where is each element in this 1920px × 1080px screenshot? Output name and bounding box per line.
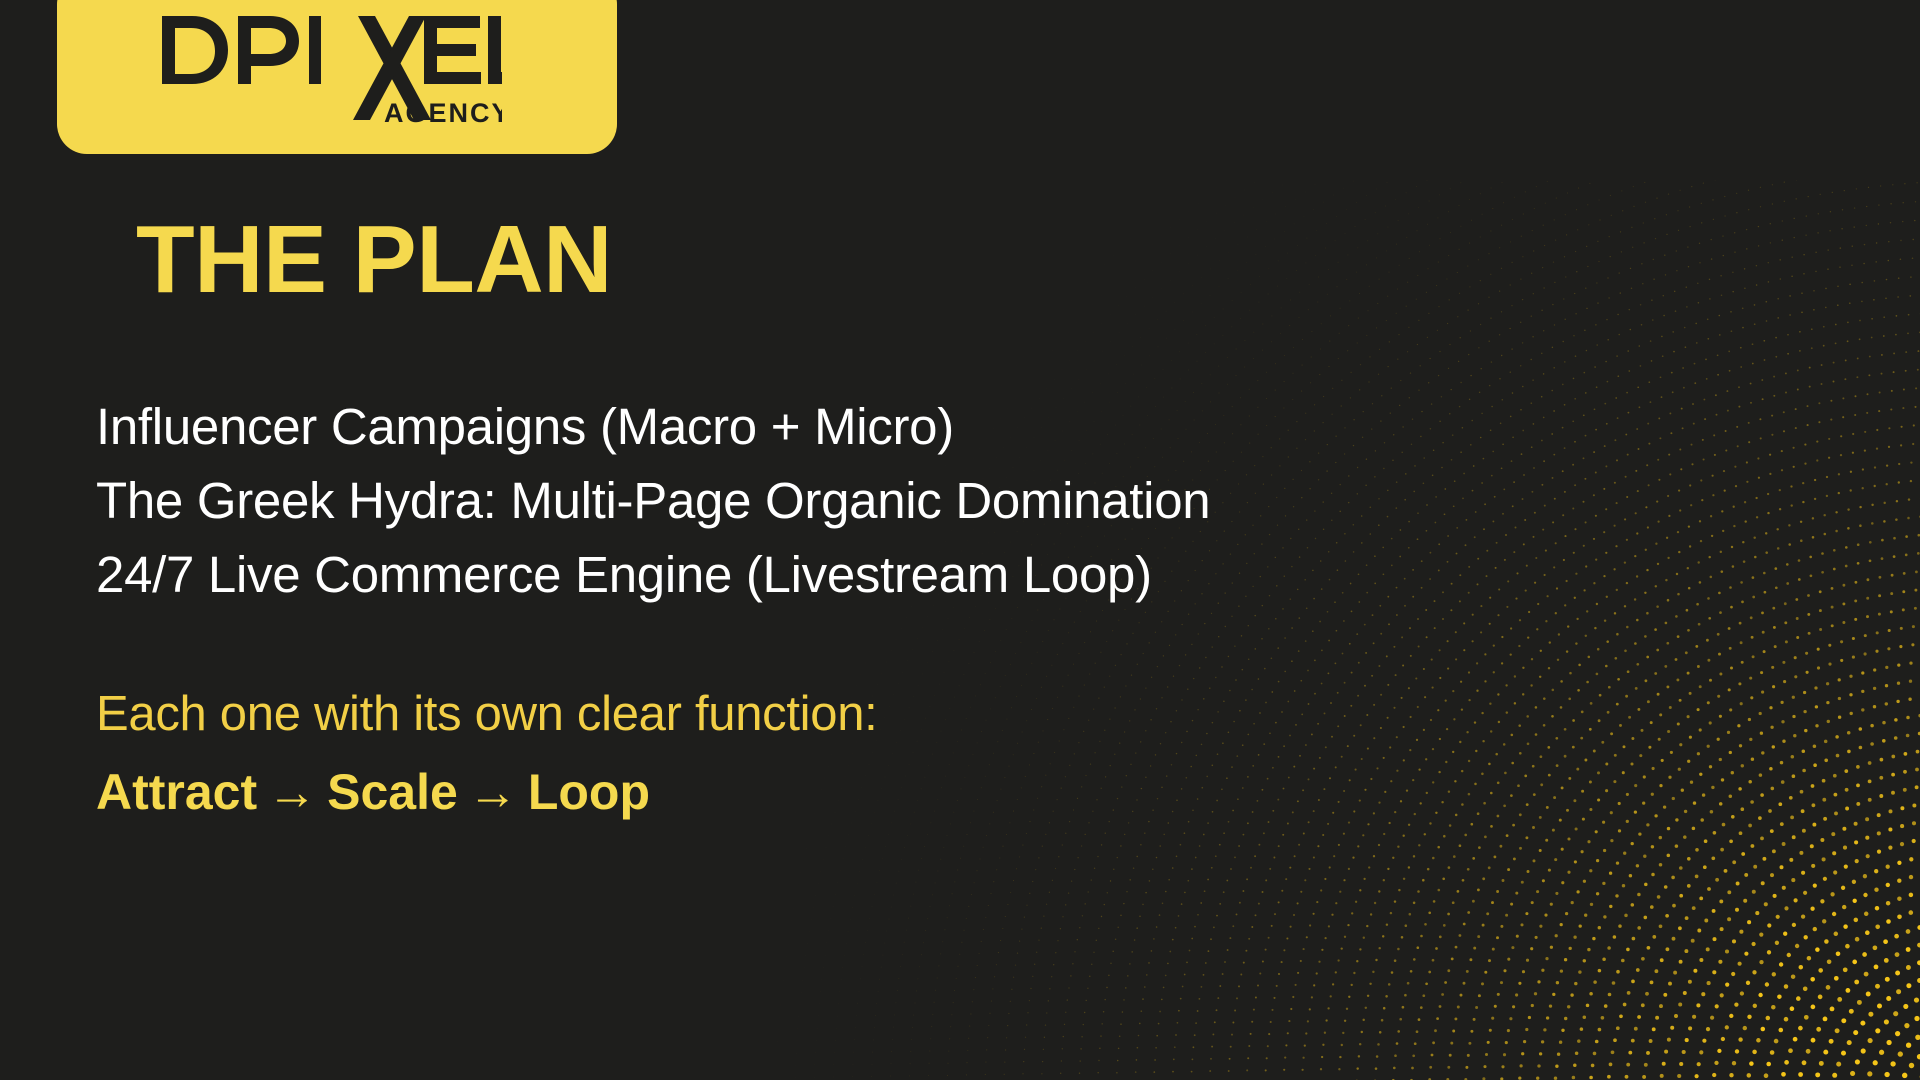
dpixel-wordmark-icon: AGENCY (162, 10, 502, 128)
plan-flow-line: Attract→Scale→Loop (96, 761, 1496, 824)
plan-bullet-3: 24/7 Live Commerce Engine (Livestream Lo… (96, 538, 1656, 612)
flow-step-loop: Loop (528, 764, 650, 820)
plan-bullet-1: Influencer Campaigns (Macro + Micro) (96, 390, 1656, 464)
halftone-burst-decoration (740, 180, 1920, 1080)
plan-function-note: Each one with its own clear function: (96, 680, 1496, 749)
slide-canvas: AGENCY THE PLAN Influencer Campaigns (Ma… (0, 0, 1920, 1080)
plan-bullet-2: The Greek Hydra: Multi-Page Organic Domi… (96, 464, 1656, 538)
flow-step-attract: Attract (96, 764, 257, 820)
plan-bullet-list: Influencer Campaigns (Macro + Micro) The… (96, 390, 1656, 612)
page-title: THE PLAN (136, 212, 612, 308)
svg-text:AGENCY: AGENCY (384, 98, 502, 128)
logo-lockup: AGENCY (162, 10, 582, 130)
arrow-right-icon-1: → (257, 761, 327, 824)
arrow-right-icon-2: → (458, 761, 528, 824)
logo-badge[interactable]: AGENCY (57, 0, 617, 154)
plan-summary-block: Each one with its own clear function: At… (96, 680, 1496, 823)
flow-step-scale: Scale (327, 764, 458, 820)
